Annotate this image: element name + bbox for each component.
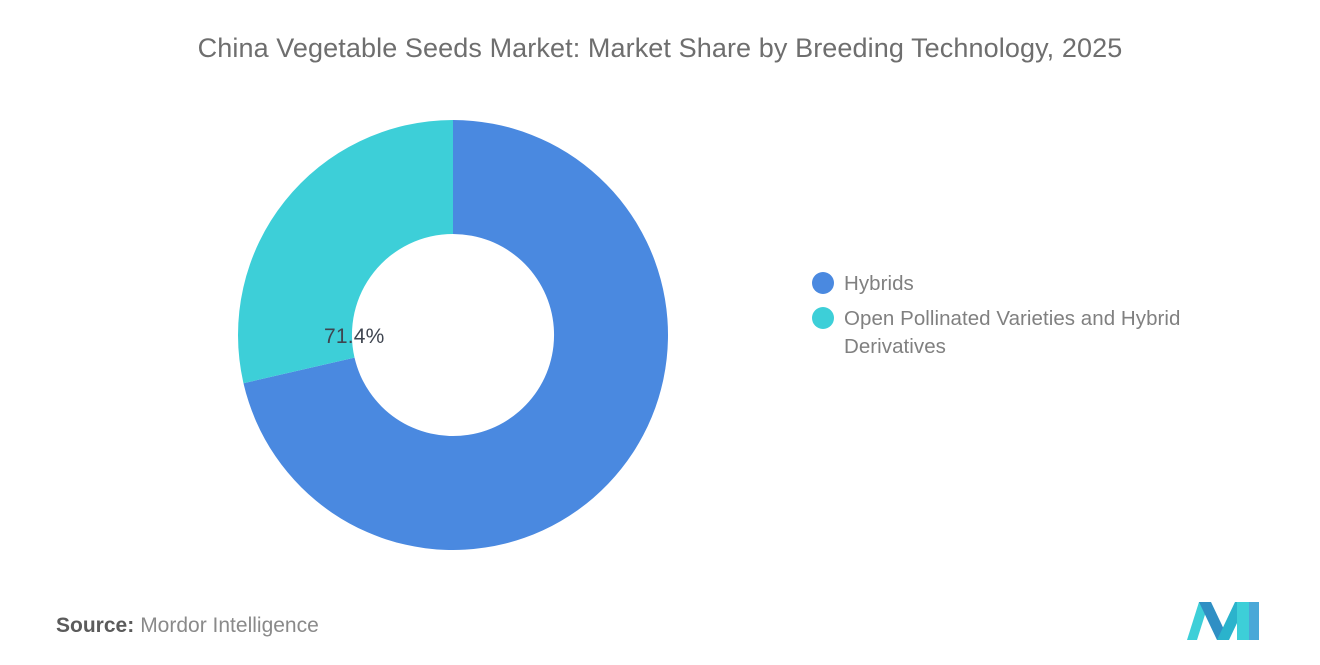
chart-legend: Hybrids Open Pollinated Varieties and Hy…	[812, 270, 1232, 368]
source-label: Source:	[56, 614, 134, 637]
source-value: Mordor Intelligence	[140, 614, 319, 637]
donut-chart: 71.4%	[238, 120, 668, 550]
slice-data-label-hybrids: 71.4%	[324, 325, 385, 349]
legend-swatch-icon-open-pollinated	[812, 307, 834, 329]
legend-item-hybrids[interactable]: Hybrids	[812, 270, 1232, 298]
source-note: Source:Mordor Intelligence	[56, 611, 319, 641]
legend-item-open-pollinated[interactable]: Open Pollinated Varieties and Hybrid Der…	[812, 305, 1232, 361]
donut-slice-group	[238, 120, 668, 550]
mordor-intelligence-logo-icon	[1185, 600, 1261, 642]
legend-label-open-pollinated: Open Pollinated Varieties and Hybrid Der…	[844, 305, 1216, 361]
page-title: China Vegetable Seeds Market: Market Sha…	[0, 28, 1320, 68]
legend-swatch-icon-hybrids	[812, 272, 834, 294]
legend-label-hybrids: Hybrids	[844, 270, 914, 298]
donut-chart-svg	[238, 120, 668, 550]
